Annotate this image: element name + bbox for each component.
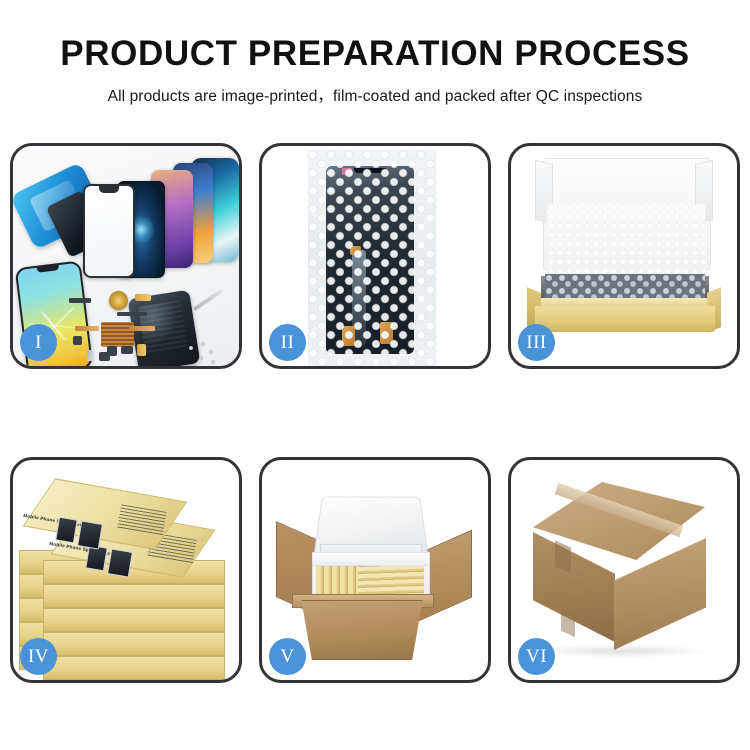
earpiece-mesh-part xyxy=(69,298,91,303)
button-bracket-part xyxy=(99,352,110,361)
flex-cable-part-1 xyxy=(75,326,99,331)
process-step-panel-v[interactable]: V xyxy=(259,457,491,683)
stacked-box-r4 xyxy=(43,608,225,632)
stacked-box-r5 xyxy=(43,632,225,656)
page-subtitle: All products are image-printed，film-coat… xyxy=(0,73,750,106)
flex-connector-part-1 xyxy=(135,294,151,301)
step-badge-i: I xyxy=(20,324,57,361)
antenna-strip-part xyxy=(117,312,147,316)
step-badge-iv: IV xyxy=(20,638,57,675)
foam-top-rim xyxy=(312,552,430,566)
process-step-panel-i[interactable]: I xyxy=(10,143,242,369)
bubble-wrap-texture xyxy=(308,150,436,366)
step-badge-iii: III xyxy=(518,324,555,361)
process-step-panel-iii[interactable]: III xyxy=(508,143,740,369)
battery-connector-part xyxy=(137,344,146,356)
box-art-swatch-1a xyxy=(55,517,78,544)
page-header: PRODUCT PREPARATION PROCESS All products… xyxy=(0,0,750,106)
clear-glass-panel xyxy=(83,184,135,278)
flex-cable-part-2 xyxy=(129,326,155,331)
process-step-panel-vi[interactable]: VI xyxy=(508,457,740,683)
box-art-swatch-1b xyxy=(77,520,103,549)
process-step-panel-iv[interactable]: Mobile Phone Spare Parts Mobile Phone Sp… xyxy=(10,457,242,683)
step-badge-ii: II xyxy=(269,324,306,361)
white-foam-sheet xyxy=(547,204,705,280)
camera-module-part xyxy=(73,336,82,345)
speaker-coil-part xyxy=(109,291,128,310)
process-step-panel-ii[interactable]: II xyxy=(259,143,491,369)
stacked-box-r3 xyxy=(43,584,225,608)
tray-front-panel xyxy=(535,306,715,332)
process-step-grid: I II xyxy=(10,143,740,683)
page-title: PRODUCT PREPARATION PROCESS xyxy=(0,0,750,73)
box-art-swatch-2b xyxy=(107,548,133,577)
bubble-bag xyxy=(308,150,436,366)
speaker-part xyxy=(121,346,133,354)
step-badge-vi: VI xyxy=(518,638,555,675)
carton-front-panel xyxy=(296,600,428,660)
stacked-box-r6 xyxy=(43,656,225,680)
step-badge-v: V xyxy=(269,638,306,675)
sim-tray-part xyxy=(87,350,94,361)
